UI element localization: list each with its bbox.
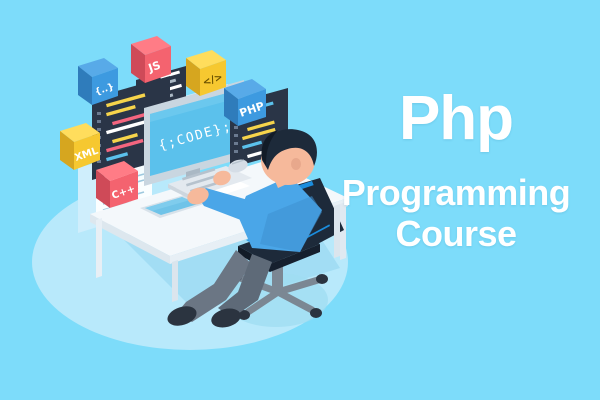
subtitle-line1: Programming: [330, 174, 582, 212]
page-title: Php: [330, 88, 582, 150]
card-php: PHP: [224, 79, 266, 126]
card-js: JS: [131, 36, 171, 83]
card-cpp: C++: [96, 161, 138, 208]
desk-leg-left: [96, 218, 102, 278]
card-braces: {..}: [78, 58, 118, 105]
headline-block: Php Programming Course: [330, 88, 582, 256]
subtitle-line2: Course: [330, 212, 582, 256]
desk-leg-front: [172, 260, 178, 302]
poster-canvas: {;CODE};: [0, 0, 600, 400]
person-ear: [291, 158, 301, 170]
